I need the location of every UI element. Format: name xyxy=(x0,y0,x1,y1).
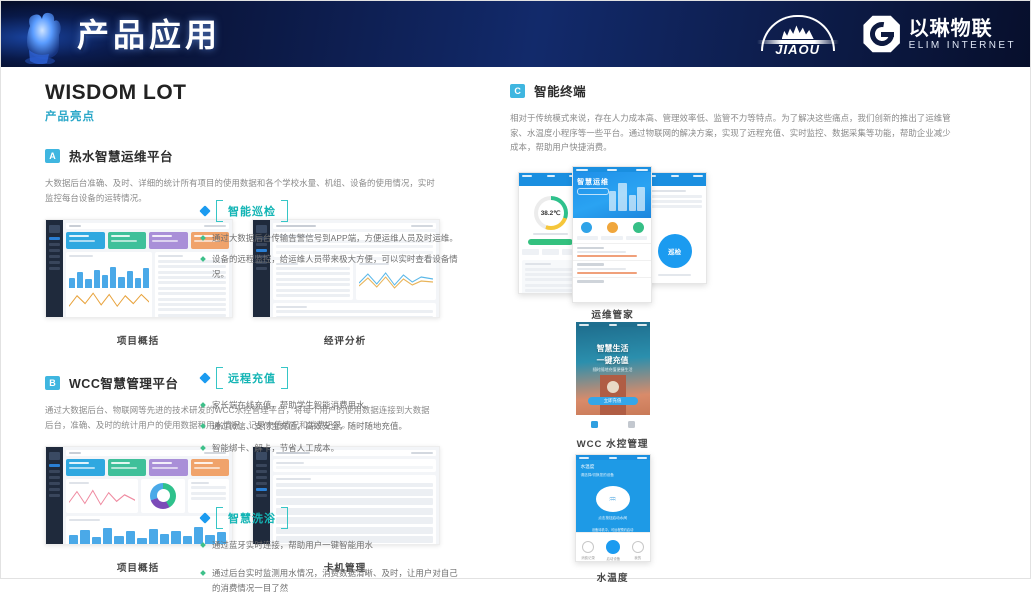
section-badge-b: B xyxy=(45,376,60,390)
list-item: 通过微信、支付宝充值，高效安全，随时随地充值。 xyxy=(201,419,459,433)
feature-list: 通过大数据后台传输告警信号到APP端，方便运维人员及时运维。 设备的远程监控，给… xyxy=(201,231,459,281)
phone-group-ops-butler[interactable]: 38.2℃ xyxy=(510,166,715,301)
phone-mockup-water-temp[interactable]: 水温度 请选择/切换您的设备 ♒ 点击按钮启动水阀 设备待机中，可远程预约启动 … xyxy=(575,454,651,562)
section-header-a: A 热水智慧运维平台 xyxy=(45,146,500,165)
section-badge-a: A xyxy=(45,149,60,163)
temp-screen-sub: 设备待机中，可远程预约启动 xyxy=(576,527,650,532)
right-column: C 智能终端 相对于传统模式来说，存在人力成本高、管理效率低、监管不力等特点。为… xyxy=(500,81,1030,580)
page-title: 产品应用 xyxy=(77,10,221,56)
temp-screen-title: 水温度 xyxy=(576,460,650,470)
mockup-caption: 运维管家 xyxy=(510,307,715,321)
phone-hero-banner: 智慧运维 xyxy=(573,172,651,218)
diamond-icon xyxy=(199,372,210,383)
section-header-c: C 智能终端 xyxy=(510,81,1030,100)
temp-screen-hint: 点击按钮启动水阀 xyxy=(576,516,650,521)
feature-title: 远程充值 xyxy=(216,367,288,389)
mockup-block-wcc: 智慧生活 一键充值 随时随地充值便捷生活 立即充值 WCC 水控管理 xyxy=(510,322,1030,450)
elim-logo-en: ELIM INTERNET xyxy=(909,40,1016,51)
product-application-page: 产品应用 JIAOU 以琳物联 ELIM INTERNET WI xyxy=(0,0,1031,579)
elim-logo-cn: 以琳物联 xyxy=(909,18,1016,39)
diamond-icon xyxy=(199,512,210,523)
temp-tab-start[interactable]: 启动设备 xyxy=(606,540,620,561)
section-title-a: 热水智慧运维平台 xyxy=(69,146,173,165)
phone-group-water-temp[interactable]: 水温度 请选择/切换您的设备 ♒ 点击按钮启动水阀 设备待机中，可远程预约启动 … xyxy=(510,454,715,562)
list-item: 通过后台实时监测用水情况，消费数据清晰、及时，让用户对自己的消费情况一目了然 xyxy=(201,566,459,595)
brand-title-en: WISDOM LOT xyxy=(45,81,500,105)
mockup-caption: 水温度 xyxy=(510,570,715,584)
mockup-caption: WCC 水控管理 xyxy=(510,436,715,450)
mini-line-chart xyxy=(69,288,149,314)
elim-logo: 以琳物联 ELIM INTERNET xyxy=(863,15,1016,53)
section-desc-c: 相对于传统模式来说，存在人力成本高、管理效率低、监管不力等特点。为了解决这些痛点… xyxy=(510,111,955,155)
list-item: 设备的远程监控，给运维人员带来极大方便，可以实时查看设备情况。 xyxy=(201,252,459,281)
jiaou-sunrise-logo: JIAOU xyxy=(755,11,841,57)
brand-subtitle-cn: 产品亮点 xyxy=(45,108,500,124)
temp-tab-label: 消费记录 xyxy=(581,555,595,560)
wcc-tab-mine[interactable] xyxy=(613,415,650,433)
screenshot-sidebar xyxy=(46,220,63,317)
feature-title: 智慧洗浴 xyxy=(216,507,288,529)
thumbnail-caption: 项目概括 xyxy=(45,333,231,347)
phone-mockup-wcc[interactable]: 智慧生活 一键充值 随时随地充值便捷生活 立即充值 xyxy=(576,322,650,428)
temp-tab-label: 我的 xyxy=(634,555,641,560)
feature-title: 智能巡检 xyxy=(216,200,288,222)
temp-tab-records[interactable]: 消费记录 xyxy=(581,541,595,560)
mockup-block-ops-butler: 38.2℃ xyxy=(510,166,1030,316)
wcc-tabbar[interactable] xyxy=(576,415,650,433)
list-item: 通过大数据后台传输告警信号到APP端，方便运维人员及时运维。 xyxy=(201,231,459,245)
wcc-hero: 智慧生活 一键充值 随时随地充值便捷生活 立即充值 xyxy=(576,327,650,415)
inspection-start-button[interactable]: 巡检 xyxy=(658,234,692,268)
list-item: 家长端在线充值，帮助学生智能消费用水。 xyxy=(201,398,459,412)
elim-hex-g-logo xyxy=(863,15,901,53)
jiaou-logo-text: JIAOU xyxy=(755,42,841,57)
phone-hero-title: 智慧运维 xyxy=(577,177,609,187)
page-header: 产品应用 JIAOU 以琳物联 ELIM INTERNET xyxy=(1,1,1030,67)
mockup-block-water-temp: 水温度 请选择/切换您的设备 ♒ 点击按钮启动水阀 设备待机中，可远程预约启动 … xyxy=(510,454,1030,580)
wcc-recharge-button[interactable]: 立即充值 xyxy=(588,397,638,405)
wcc-tab-home[interactable] xyxy=(576,415,613,433)
temp-tabbar[interactable]: 消费记录 启动设备 我的 xyxy=(576,532,650,562)
left-column: WISDOM LOT 产品亮点 A 热水智慧运维平台 大数据后台准确、及时、详细… xyxy=(1,81,500,580)
feature-block-smart-bathing: 智慧洗浴 通过蓝牙实时连接，帮助用户一键智能用水 通过后台实时监测用水情况，消费… xyxy=(201,507,459,602)
feature-list: 家长端在线充值，帮助学生智能消费用水。 通过微信、支付宝充值，高效安全，随时随地… xyxy=(201,398,459,455)
temp-screen-address: 请选择/切换您的设备 xyxy=(576,470,650,478)
wcc-hero-title: 智慧生活 xyxy=(597,344,629,353)
feature-list: 通过蓝牙实时连接，帮助用户一键智能用水 通过后台实时监测用水情况，消费数据清晰、… xyxy=(201,538,459,595)
screenshot-sidebar xyxy=(46,447,63,544)
list-item: 通过蓝牙实时连接，帮助用户一键智能用水 xyxy=(201,538,459,552)
header-logos: JIAOU 以琳物联 ELIM INTERNET xyxy=(755,1,1016,67)
list-item: 智能绑卡、解卡，节省人工成本。 xyxy=(201,441,459,455)
shower-icon: ♒ xyxy=(596,486,630,512)
page-content: WISDOM LOT 产品亮点 A 热水智慧运维平台 大数据后台准确、及时、详细… xyxy=(1,67,1030,580)
section-badge-c: C xyxy=(510,84,525,98)
fist-icon xyxy=(17,6,63,64)
section-title-c: 智能终端 xyxy=(534,81,586,100)
mini-line-chart xyxy=(69,484,135,510)
feature-block-remote-recharge: 远程充值 家长端在线充值，帮助学生智能消费用水。 通过微信、支付宝充值，高效安全… xyxy=(201,367,459,462)
section-title-b: WCC智慧管理平台 xyxy=(69,373,178,392)
thumbnail-caption: 经评分析 xyxy=(252,333,438,347)
temp-tab-label: 启动设备 xyxy=(607,556,621,561)
diamond-icon xyxy=(199,205,210,216)
wcc-hero-title2: 一键充值 xyxy=(597,356,629,365)
phone-mockup-ops-home[interactable]: 智慧运维 xyxy=(572,166,652,303)
feature-block-smart-inspection: 智能巡检 通过大数据后台传输告警信号到APP端，方便运维人员及时运维。 设备的远… xyxy=(201,200,459,288)
temp-tab-mine[interactable]: 我的 xyxy=(632,541,644,560)
phone-group-wcc[interactable]: 智慧生活 一键充值 随时随地充值便捷生活 立即充值 xyxy=(510,322,715,428)
wcc-hero-sub: 随时随地充值便捷生活 xyxy=(576,367,650,373)
